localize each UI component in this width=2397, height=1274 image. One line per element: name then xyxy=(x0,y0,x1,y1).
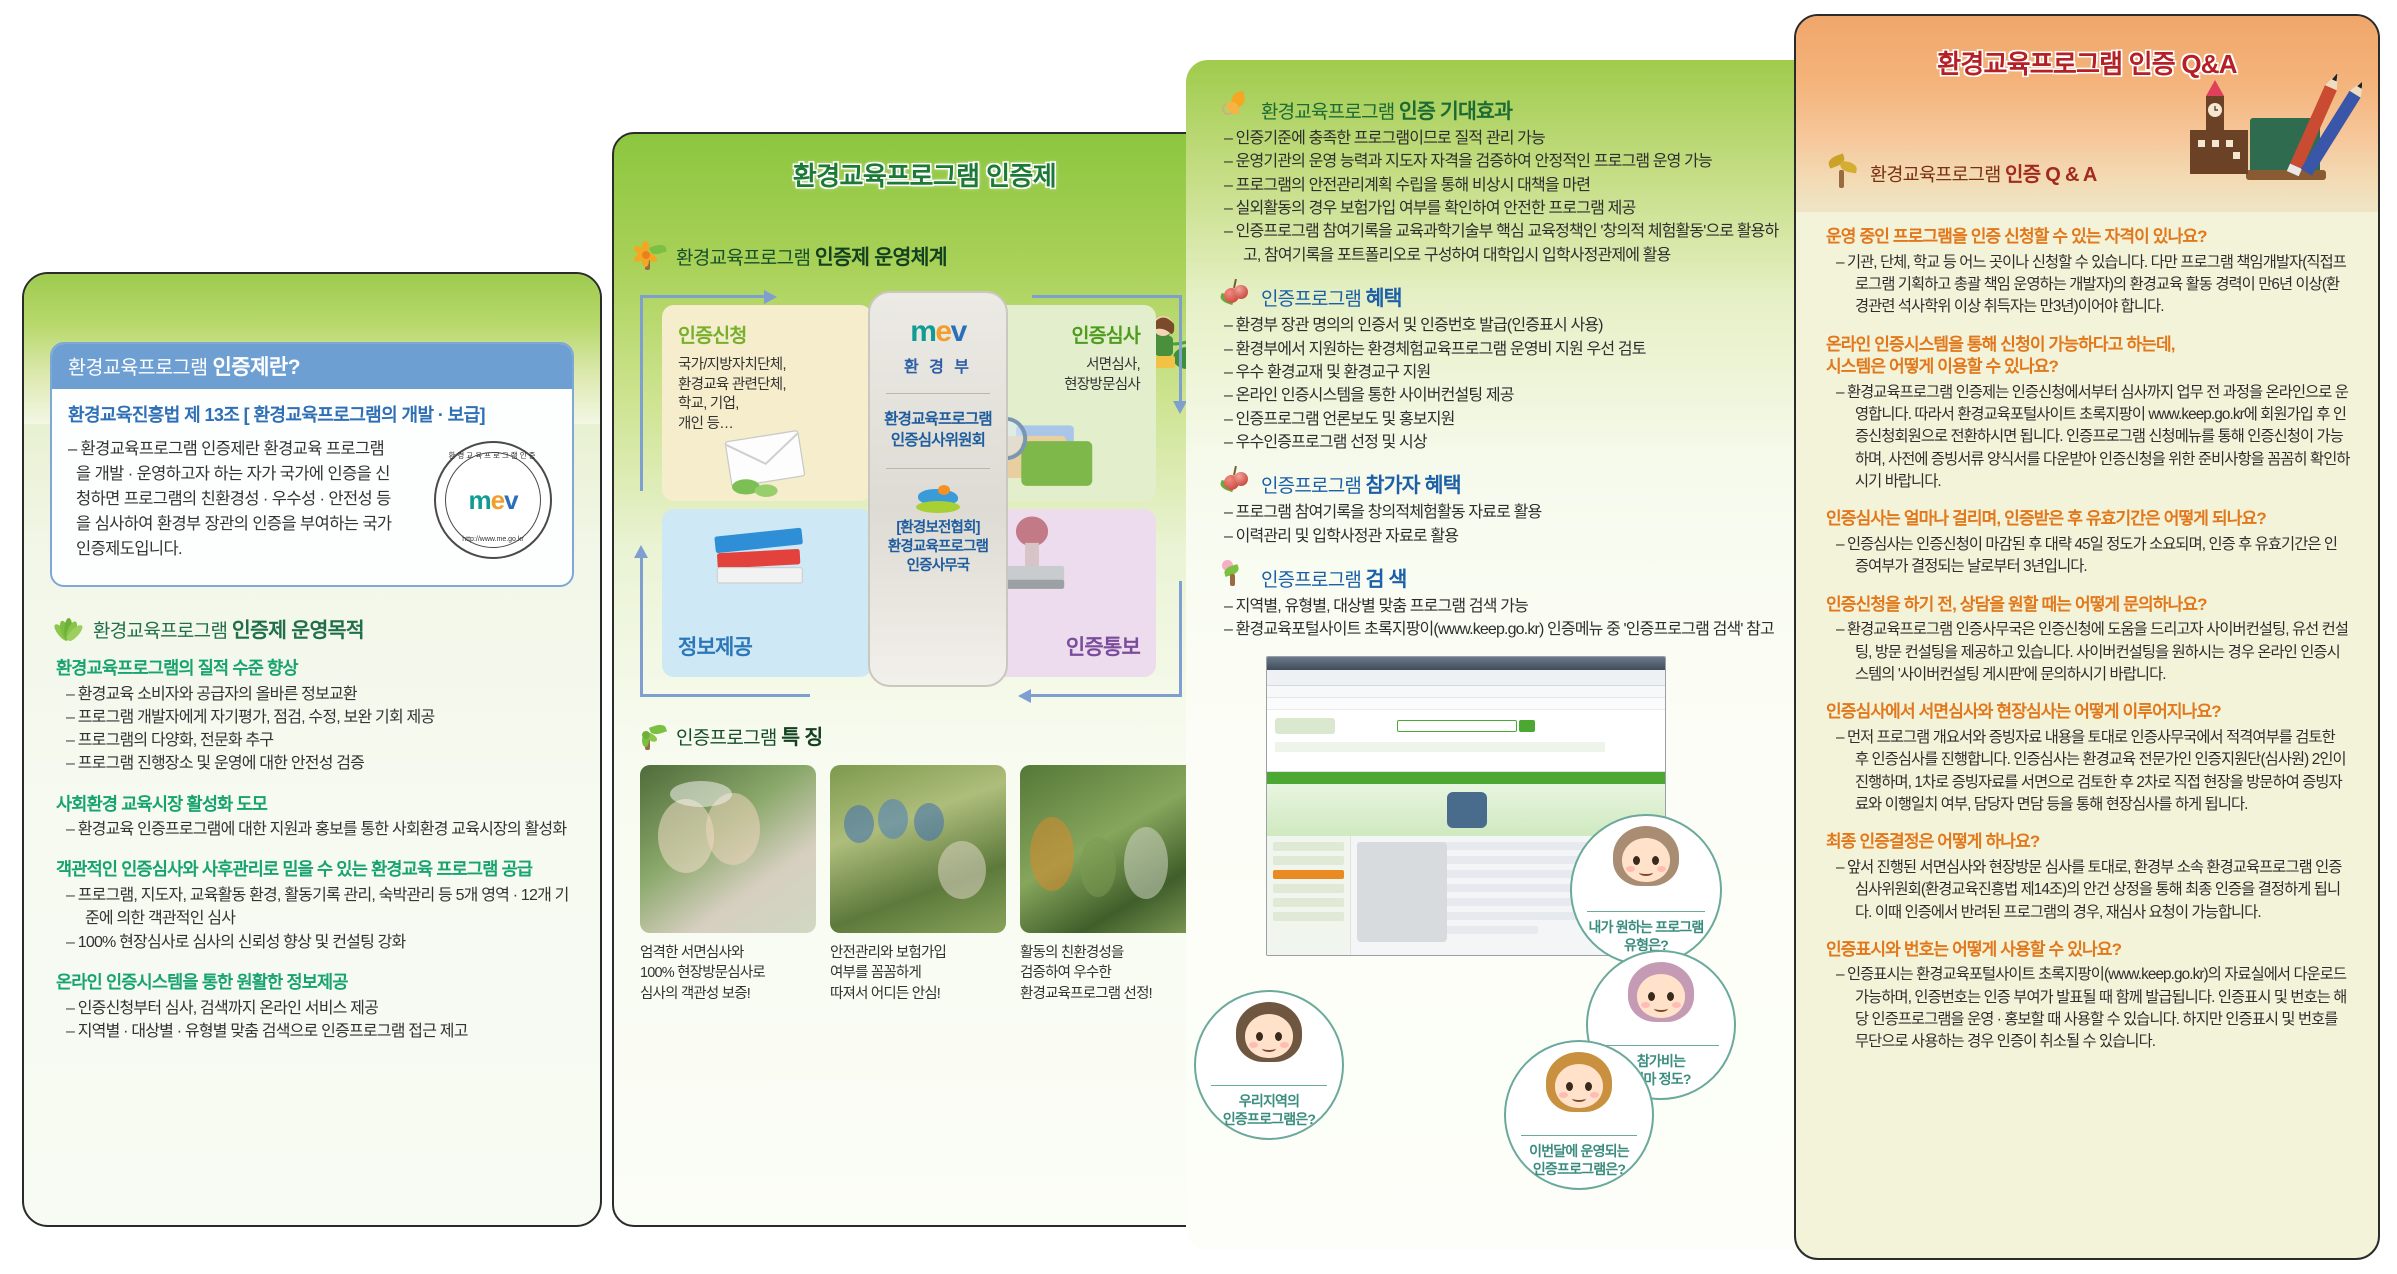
school-and-pencils-icon xyxy=(2172,74,2362,204)
system-heading-text: 환경교육프로그램 인증제 운영체계 xyxy=(676,240,947,270)
photo-water-testing xyxy=(640,765,816,933)
list-item: 프로그램 참여기록을 창의적체험활동 자료로 활용 xyxy=(1224,501,1790,524)
sprout-icon xyxy=(1222,560,1252,588)
avatar xyxy=(1546,1052,1612,1112)
qa-question: 인증표시와 번호는 어떻게 사용할 수 있나요? xyxy=(1826,939,2350,962)
box-label: 정보제공 xyxy=(678,631,752,661)
stamp-mev-wordmark: mev xyxy=(468,485,517,516)
qa-question: 인증심사에서 서면심사와 현장심사는 어떻게 이루어지나요? xyxy=(1826,701,2350,724)
purpose-group-title: 객관적인 인증심사와 사후관리로 믿을 수 있는 환경교육 프로그램 공급 xyxy=(56,858,574,881)
center-mev-wordmark: mev xyxy=(870,315,1006,349)
card-body: 환경교육진흥법 제 13조 [ 환경교육프로그램의 개발 · 보급] – 환경교… xyxy=(52,389,572,585)
divider xyxy=(886,468,990,469)
list-item: 우수인증프로그램 선정 및 시상 xyxy=(1224,431,1790,454)
qa-header: 환경교육프로그램 인증 Q&A 환경교육프로그램 인증 Q & A xyxy=(1796,16,2378,212)
browser-address-bar[interactable] xyxy=(1267,670,1665,686)
flow-arrowhead-up xyxy=(634,545,648,558)
photo-forest-education xyxy=(1020,765,1196,933)
card-header-strong: 인증제란? xyxy=(212,356,300,379)
panel-qa: 환경교육프로그램 인증 Q&A 환경교육프로그램 인증 Q & A xyxy=(1794,14,2380,1260)
caption: 활동의 친환경성을 검증하여 우수한 환경교육프로그램 선정! xyxy=(1020,943,1196,1004)
qa-answer: – 먼저 프로그램 개요서와 증빙자료 내용을 토대로 인증사무국에서 적격여부… xyxy=(1836,727,2350,816)
mev-v-letter: v xyxy=(951,315,966,348)
features-heading-text: 인증프로그램 특 징 xyxy=(676,720,823,750)
card-header: 환경교육프로그램 인증제란? xyxy=(52,344,572,389)
section-heading-text: 환경교육프로그램 인증 기대효과 xyxy=(1261,94,1512,124)
heading-prefix: 환경교육프로그램 xyxy=(93,621,232,642)
list-item: 인증프로그램 언론보도 및 홍보지원 xyxy=(1224,408,1790,431)
korea-map-selector[interactable] xyxy=(1357,842,1447,942)
qa-answer: – 인증표시는 환경교육포털사이트 초록지팡이(www.keep.go.kr)의… xyxy=(1836,964,2350,1053)
butterfly-icon xyxy=(1222,92,1252,120)
box-label: 인증통보 xyxy=(1066,631,1140,661)
speech-bubble-monthly: 이번달에 운영되는 인증프로그램은? xyxy=(1504,1040,1654,1190)
features-heading-prefix: 인증프로그램 xyxy=(676,728,781,749)
system-heading-prefix: 환경교육프로그램 xyxy=(676,248,815,269)
law-description: – 환경교육프로그램 인증제란 환경교육 프로그램을 개발 · 운영하고자 하는… xyxy=(68,437,398,562)
card-header-prefix: 환경교육프로그램 xyxy=(68,357,212,379)
browser-titlebar xyxy=(1267,657,1665,670)
list-item: 인증신청부터 심사, 검색까지 온라인 서비스 제공 xyxy=(66,997,574,1020)
diagram-box-information: 정보제공 xyxy=(662,509,872,677)
flow-arrowhead-right xyxy=(764,290,777,304)
section-heading-text: 인증프로그램 혜택 xyxy=(1261,281,1402,311)
list-item: 운영기관의 운영 능력과 지도자 자격을 검증하여 안정적인 프로그램 운영 가… xyxy=(1224,150,1790,173)
list-item: 환경교육포털사이트 초록지팡이(www.keep.go.kr) 인증메뉴 중 '… xyxy=(1224,618,1790,641)
section-heading: 인증프로그램 검 색 xyxy=(1222,562,1790,592)
berry-icon xyxy=(1222,466,1252,494)
flow-arrowhead-down xyxy=(1173,401,1187,414)
section-heading-text: 인증프로그램 검 색 xyxy=(1261,562,1407,592)
avatar xyxy=(1628,962,1694,1022)
divider xyxy=(886,393,990,394)
mev-e-letter: e xyxy=(935,315,950,348)
qa-entry: 인증심사는 얼마나 걸리며, 인증받은 후 유효기간은 어떻게 되나요? – 인… xyxy=(1826,508,2350,578)
bubble-text: 내가 원하는 프로그램 유형은? xyxy=(1571,918,1721,954)
qa-answer: – 환경교육프로그램 인증사무국은 인증신청에 도움을 드리고자 사이버컨설팅,… xyxy=(1836,619,2350,686)
list-item: 인증기준에 충족한 프로그램이므로 질적 관리 가능 xyxy=(1224,127,1790,150)
list-item: 프로그램, 지도자, 교육활동 환경, 활동기록 관리, 숙박관리 등 5개 영… xyxy=(66,884,574,930)
purpose-group-title: 온라인 인증시스템을 통한 원활한 정보제공 xyxy=(56,971,574,994)
sprout-icon xyxy=(1826,154,1860,190)
caption: 엄격한 서면심사와 100% 현장방문심사로 심사의 객관성 보증! xyxy=(640,943,816,1004)
berry-icon xyxy=(1222,279,1252,307)
list-item: 프로그램의 안전관리계획 수립을 통해 비상시 대책을 마련 xyxy=(1224,174,1790,197)
subheading-strong: 인증 Q & A xyxy=(2005,164,2097,186)
speech-bubble-region: 우리지역의 인증프로그램은? xyxy=(1194,990,1344,1140)
flow-arrowhead-left xyxy=(1018,689,1031,703)
system-heading-strong: 인증제 운영체계 xyxy=(815,246,947,269)
diagram-center-authority: mev 환 경 부 환경교육프로그램 인증심사위원회 [환경보전협회] 환경교육… xyxy=(868,291,1008,687)
qa-entry: 인증심사에서 서면심사와 현장심사는 어떻게 이루어지나요? – 먼저 프로그램… xyxy=(1826,701,2350,816)
section-heading: 환경교육프로그램 인증 기대효과 xyxy=(1222,94,1790,124)
list-item: 지역별, 유형별, 대상별 맞춤 프로그램 검색 가능 xyxy=(1224,595,1790,618)
qa-answer: – 기관, 단체, 학교 등 어느 곳이나 신청할 수 있습니다. 다만 프로그… xyxy=(1836,252,2350,319)
purpose-group: 온라인 인증시스템을 통한 원활한 정보제공 인증신청부터 심사, 검색까지 온… xyxy=(50,971,574,1043)
flower-icon xyxy=(634,239,668,271)
mev-certification-stamp-icon: 환경교육프로그램인증 mev http://www.me.go.kr xyxy=(434,441,552,559)
browser-favorites-bar[interactable] xyxy=(1267,698,1665,710)
stamp-arc-text: 환경교육프로그램인증 xyxy=(449,450,538,461)
bubble-text: 우리지역의 인증프로그램은? xyxy=(1194,1092,1344,1128)
heading-strong: 인증제 운영목적 xyxy=(232,619,364,642)
qa-answer: – 인증심사는 인증신청이 마감된 후 대략 45일 정도가 소요되며, 인증 … xyxy=(1836,534,2350,579)
qa-entry: 인증표시와 번호는 어떻게 사용할 수 있나요? – 인증표시는 환경교육포털사… xyxy=(1826,939,2350,1054)
what-is-certification-card: 환경교육프로그램 인증제란? 환경교육진흥법 제 13조 [ 환경교육프로그램의… xyxy=(50,342,574,587)
envelope-icon xyxy=(710,421,830,497)
qa-list: 운영 중인 프로그램을 인증 신청할 수 있는 자격이 있나요? – 기관, 단… xyxy=(1796,212,2378,1054)
list-item: 환경부에서 지원하는 환경체험교육프로그램 운영비 지원 우선 검토 xyxy=(1224,338,1790,361)
browser-menu-bar[interactable] xyxy=(1267,686,1665,698)
heading-strong: 참가자 혜택 xyxy=(1366,474,1461,497)
mev-m-letter: m xyxy=(910,315,935,348)
qa-subheading-text: 환경교육프로그램 인증 Q & A xyxy=(1870,158,2097,187)
list-item: 환경교육 인증프로그램에 대한 지원과 홍보를 통한 사회환경 교육시장의 활성… xyxy=(66,818,574,841)
qa-entry: 운영 중인 프로그램을 인증 신청할 수 있는 자격이 있나요? – 기관, 단… xyxy=(1826,226,2350,319)
system-heading: 환경교육프로그램 인증제 운영체계 xyxy=(634,239,1235,271)
diagram-box-application: 인증신청 국가/지방자치단체, 환경교육 관련단체, 학교, 기업, 개인 등… xyxy=(662,305,872,501)
qa-question: 인증신청을 하기 전, 상담을 원할 때는 어떻게 문의하나요? xyxy=(1826,594,2350,617)
purpose-group: 객관적인 인증심사와 사후관리로 믿을 수 있는 환경교육 프로그램 공급 프로… xyxy=(50,858,574,953)
qa-entry: 인증신청을 하기 전, 상담을 원할 때는 어떻게 문의하나요? – 환경교육프… xyxy=(1826,594,2350,687)
flow-arrow-top-left xyxy=(640,295,766,298)
panel-certification-system: 환경교육프로그램 인증제 환경교육프로그램 인증제 운영체계 xyxy=(612,132,1237,1227)
mev-e-letter: e xyxy=(491,485,504,515)
purpose-group-title: 사회환경 교육시장 활성화 도모 xyxy=(56,793,574,816)
section-heading: 인증프로그램 혜택 xyxy=(1222,281,1790,311)
environment-association-logo-icon xyxy=(914,485,962,515)
flow-arrow-bottom-left xyxy=(640,694,810,697)
list-item: 환경교육 소비자와 공급자의 올바른 정보교환 xyxy=(66,683,574,706)
flow-arrow-right-down xyxy=(1179,295,1182,405)
stamp-url-text: http://www.me.go.kr xyxy=(462,536,523,543)
heading-prefix: 인증프로그램 xyxy=(1261,289,1366,310)
qa-answer: – 환경교육프로그램 인증제는 인증신청에서부터 심사까지 업무 전 과정을 온… xyxy=(1836,382,2350,494)
leaf-icon xyxy=(50,615,84,641)
section-heading-text: 인증프로그램 참가자 혜택 xyxy=(1261,468,1461,498)
law-clause-title: 환경교육진흥법 제 13조 [ 환경교육프로그램의 개발 · 보급] xyxy=(68,401,556,427)
qa-entry: 온라인 인증시스템을 통해 신청이 가능하다고 하는데, 시스템은 어떻게 이용… xyxy=(1826,334,2350,494)
list-item: 인증프로그램 참여기록을 교육과학기술부 핵심 교육정책인 '창의적 체험활동'… xyxy=(1224,220,1790,267)
flow-arrow-left-lower xyxy=(640,553,643,697)
heading-prefix: 인증프로그램 xyxy=(1261,476,1366,497)
list-item: 우수 환경교재 및 환경교구 지원 xyxy=(1224,361,1790,384)
list-item: 지역별 · 대상별 · 유형별 맞춤 검색으로 인증프로그램 접근 제고 xyxy=(66,1020,574,1043)
speech-bubble-program-type: 내가 원하는 프로그램 유형은? xyxy=(1570,814,1722,966)
ministry-label: 환 경 부 xyxy=(870,353,1006,377)
heading-strong: 혜택 xyxy=(1366,287,1402,310)
operating-purpose-heading-text: 환경교육프로그램 인증제 운영목적 xyxy=(93,613,364,643)
mev-m-letter: m xyxy=(468,485,490,515)
section-expected-effects: 환경교육프로그램 인증 기대효과 인증기준에 충족한 프로그램이므로 질적 관리… xyxy=(1222,94,1790,267)
committee-label: 환경교육프로그램 인증심사위원회 xyxy=(870,410,1006,452)
purpose-group-title: 환경교육프로그램의 질적 수준 향상 xyxy=(56,657,574,680)
avatar xyxy=(1236,1002,1302,1062)
flow-arrow-top-right xyxy=(1032,295,1182,298)
feature-photo-strip xyxy=(640,765,1209,933)
qa-question: 운영 중인 프로그램을 인증 신청할 수 있는 자격이 있나요? xyxy=(1826,226,2350,249)
list-item: 환경부 장관 명의의 인증서 및 인증번호 발급(인증표시 사용) xyxy=(1224,314,1790,337)
flow-arrow-left-up xyxy=(640,295,643,491)
page-title: 환경교육프로그램 인증제 xyxy=(614,134,1235,193)
features-heading: 인증프로그램 특 징 xyxy=(634,719,1235,751)
purpose-group: 환경교육프로그램의 질적 수준 향상 환경교육 소비자와 공급자의 올바른 정보… xyxy=(50,657,574,776)
section-program-search: 인증프로그램 검 색 지역별, 유형별, 대상별 맞춤 프로그램 검색 가능 환… xyxy=(1222,562,1790,642)
qa-entry: 최종 인증결정은 어떻게 하나요? – 앞서 진행된 서면심사와 현장방문 심사… xyxy=(1826,831,2350,924)
mev-v-letter: v xyxy=(504,485,517,515)
section-program-benefits: 인증프로그램 혜택 환경부 장관 명의의 인증서 및 인증번호 발급(인증표시 … xyxy=(1222,281,1790,454)
certification-flow-diagram: 인증신청 국가/지방자치단체, 환경교육 관련단체, 학교, 기업, 개인 등…… xyxy=(640,295,1209,713)
feature-caption-row: 엄격한 서면심사와 100% 현장방문심사로 심사의 객관성 보증! 안전관리와… xyxy=(640,943,1209,1004)
qa-answer: – 앞서 진행된 서면심사와 현장방문 심사를 토대로, 환경부 소속 환경교육… xyxy=(1836,857,2350,924)
heading-prefix: 인증프로그램 xyxy=(1261,570,1366,591)
subheading-prefix: 환경교육프로그램 xyxy=(1870,164,2005,185)
list-item: 온라인 인증시스템을 통한 사이버컨설팅 제공 xyxy=(1224,384,1790,407)
caption: 안전관리와 보험가입 여부를 꼼꼼하게 따져서 어디든 안심! xyxy=(830,943,1006,1004)
brochure-canvas: 환경교육프로그램 인증제란? 환경교육진흥법 제 13조 [ 환경교육프로그램의… xyxy=(0,0,2397,1274)
list-item: 프로그램 진행장소 및 운영에 대한 안전성 검증 xyxy=(66,752,574,775)
panel-benefits-and-search: 환경교육프로그램 인증 기대효과 인증기준에 충족한 프로그램이므로 질적 관리… xyxy=(1186,60,1816,1250)
qa-subheading: 환경교육프로그램 인증 Q & A xyxy=(1826,154,2097,190)
list-item: 프로그램의 다양화, 전문화 추구 xyxy=(66,729,574,752)
bubble-text: 이번달에 운영되는 인증프로그램은? xyxy=(1504,1142,1654,1178)
heading-strong: 인증 기대효과 xyxy=(1399,100,1512,123)
list-item: 이력관리 및 입학사정관 자료로 활용 xyxy=(1224,525,1790,548)
site-nav-bar[interactable] xyxy=(1267,772,1665,784)
photo-field-activity xyxy=(830,765,1006,933)
site-header xyxy=(1267,710,1665,772)
purpose-group: 사회환경 교육시장 활성화 도모 환경교육 인증프로그램에 대한 지원과 홍보를… xyxy=(50,793,574,842)
sprout-icon xyxy=(634,719,668,751)
section-heading: 인증프로그램 참가자 혜택 xyxy=(1222,468,1790,498)
books-icon xyxy=(696,515,826,599)
section-participant-benefits: 인증프로그램 참가자 혜택 프로그램 참여기록을 창의적체험활동 자료로 활용 … xyxy=(1222,468,1790,548)
box-label: 인증신청 xyxy=(678,319,872,348)
list-item: 프로그램 개발자에게 자기평가, 점검, 수정, 보완 기회 제공 xyxy=(66,706,574,729)
flow-arrow-bottom-right xyxy=(1030,694,1182,697)
list-item: 실외활동의 경우 보험가입 여부를 확인하여 안전한 프로그램 제공 xyxy=(1224,197,1790,220)
list-item: 100% 현장심사로 심사의 신뢰성 향상 및 컨설팅 강화 xyxy=(66,931,574,954)
flow-arrow-right-lower xyxy=(1179,581,1182,697)
avatar xyxy=(1613,826,1679,886)
heading-prefix: 환경교육프로그램 xyxy=(1261,102,1399,123)
office-label: [환경보전협회] 환경교육프로그램 인증사무국 xyxy=(870,519,1006,576)
qa-title: 환경교육프로그램 인증 Q&A xyxy=(1796,16,2378,81)
qa-question: 온라인 인증시스템을 통해 신청이 가능하다고 하는데, 시스템은 어떻게 이용… xyxy=(1826,334,2350,379)
panel-certification-overview: 환경교육프로그램 인증제란? 환경교육진흥법 제 13조 [ 환경교육프로그램의… xyxy=(22,272,602,1227)
operating-purpose-heading: 환경교육프로그램 인증제 운영목적 xyxy=(50,613,574,643)
qa-question: 최종 인증결정은 어떻게 하나요? xyxy=(1826,831,2350,854)
heading-strong: 검 색 xyxy=(1366,568,1407,591)
site-sidebar-menu[interactable] xyxy=(1267,836,1351,956)
features-heading-strong: 특 징 xyxy=(781,726,822,749)
qa-question: 인증심사는 얼마나 걸리며, 인증받은 후 유효기간은 어떻게 되나요? xyxy=(1826,508,2350,531)
